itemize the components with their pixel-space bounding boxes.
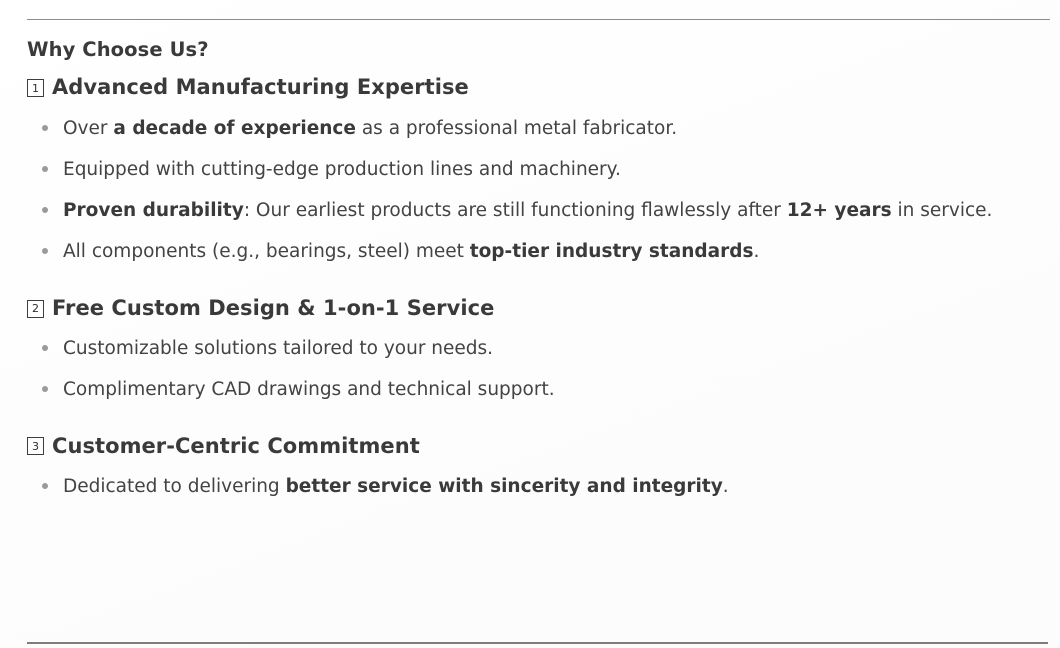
body-text: Over xyxy=(63,118,113,139)
body-text: . xyxy=(754,241,760,262)
body-text: Complimentary CAD drawings and technical… xyxy=(63,379,555,400)
emphasis-text: a decade of experience xyxy=(113,118,356,139)
section-heading-label: Free Custom Design & 1-on-1 Service xyxy=(52,295,494,322)
section-heading-1: 1Advanced Manufacturing Expertise xyxy=(27,74,1042,101)
body-text: All components (e.g., bearings, steel) m… xyxy=(63,241,470,262)
section-heading-3: 3Customer-Centric Commitment xyxy=(27,433,1042,460)
document-content: Why Choose Us? 1Advanced Manufacturing E… xyxy=(0,0,1060,501)
section-heading-label: Customer-Centric Commitment xyxy=(52,433,420,460)
list-item: Over a decade of experience as a profess… xyxy=(27,115,1038,143)
bullet-list-3: Dedicated to delivering better service w… xyxy=(27,473,1042,501)
emphasis-text: better service with sincerity and integr… xyxy=(286,476,723,497)
body-text: . xyxy=(723,476,729,497)
bullet-list-1: Over a decade of experience as a profess… xyxy=(27,115,1042,266)
list-item: Customizable solutions tailored to your … xyxy=(27,335,1038,363)
list-item: Equipped with cutting-edge production li… xyxy=(27,156,1038,184)
body-text: as a professional metal fabricator. xyxy=(356,118,677,139)
document-page: Why Choose Us? 1Advanced Manufacturing E… xyxy=(0,0,1060,648)
emphasis-text: top-tier industry standards xyxy=(470,241,754,262)
body-text: in service. xyxy=(892,200,993,221)
boxed-number-icon: 1 xyxy=(27,79,44,97)
body-text: Customizable solutions tailored to your … xyxy=(63,338,493,359)
list-item: Dedicated to delivering better service w… xyxy=(27,473,1038,501)
section-heading-2: 2Free Custom Design & 1-on-1 Service xyxy=(27,295,1042,322)
boxed-number-icon: 2 xyxy=(27,300,44,318)
page-title: Why Choose Us? xyxy=(27,38,1042,62)
emphasis-text: Proven durability xyxy=(63,200,244,221)
body-text: Dedicated to delivering xyxy=(63,476,286,497)
boxed-number-icon: 3 xyxy=(27,437,44,455)
bullet-list-2: Customizable solutions tailored to your … xyxy=(27,335,1042,403)
sections-container: 1Advanced Manufacturing ExpertiseOver a … xyxy=(27,74,1042,501)
list-item: Complimentary CAD drawings and technical… xyxy=(27,376,1038,404)
emphasis-text: 12+ years xyxy=(787,200,892,221)
list-item: All components (e.g., bearings, steel) m… xyxy=(27,238,1038,266)
bottom-divider xyxy=(27,642,1048,644)
list-item: Proven durability: Our earliest products… xyxy=(27,197,1038,225)
body-text: Equipped with cutting-edge production li… xyxy=(63,159,621,180)
section-heading-label: Advanced Manufacturing Expertise xyxy=(52,74,469,101)
body-text: : Our earliest products are still functi… xyxy=(244,200,787,221)
